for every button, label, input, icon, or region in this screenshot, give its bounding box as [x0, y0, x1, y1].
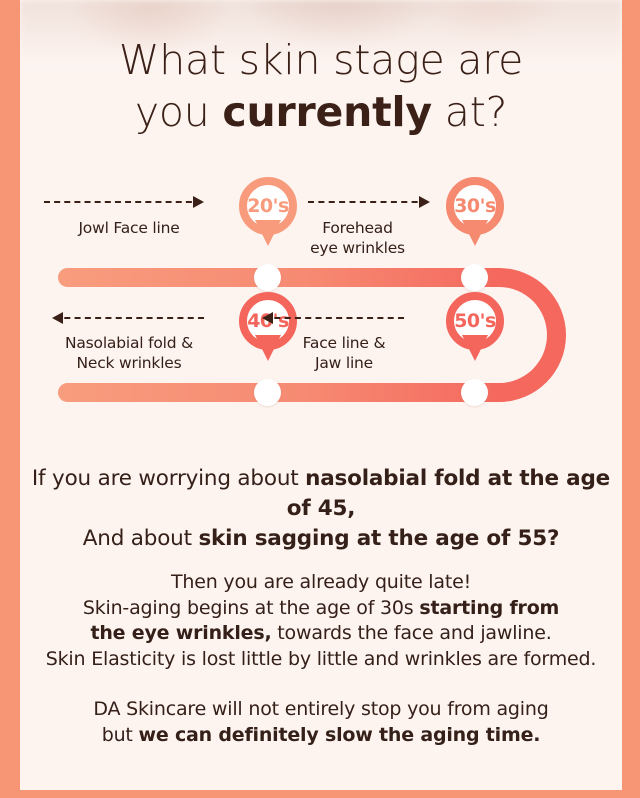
title-line-2-prefix: you: [135, 88, 223, 136]
timeline-node-50s: [461, 379, 488, 406]
paragraph-2-line-2-plain: Skin-aging begins at the age of 30s: [83, 597, 420, 619]
stage-connector-50s-dash: [264, 317, 404, 319]
stage-pin-30s-tail: [462, 220, 488, 246]
stage-connector-20s: [44, 201, 202, 203]
title-line-2-emphasis: currently: [222, 88, 432, 136]
paragraph-2-line-4: Skin Elasticity is lost little by little…: [20, 647, 622, 673]
content-canvas: What skin stage are you currently at? 20…: [20, 0, 622, 790]
paragraph-3-line-2-emphasis: we can definitely slow the aging time.: [139, 724, 541, 746]
paragraph-2-line-3-emphasis: the eye wrinkles,: [90, 622, 271, 644]
paragraph-1-line-2-emphasis: skin sagging at the age of 55?: [198, 526, 559, 551]
stage-label-20s: Jowl Face line: [34, 218, 224, 238]
stage-pin-30s[interactable]: 30's: [446, 177, 504, 235]
stage-connector-20s-dash: [44, 201, 202, 203]
paragraph-2-line-3-plain: towards the face and jawline.: [271, 622, 551, 644]
arrow-right-icon: [419, 196, 430, 208]
paragraph-1-line-1-emphasis: nasolabial fold at the age of 45,: [287, 466, 610, 521]
stage-pin-50s-age: 50's: [454, 312, 496, 331]
paragraph-1-line-1-plain: If you are worrying about: [32, 466, 305, 491]
stage-connector-30s-dash: [308, 201, 428, 203]
timeline-track-top: [58, 268, 508, 287]
title-line-2-suffix: at?: [432, 88, 507, 136]
timeline-node-20s: [254, 264, 281, 291]
paragraph-1-line-1: If you are worrying about nasolabial fol…: [20, 464, 622, 524]
paragraph-3-line-2-plain: but: [102, 724, 139, 746]
title-line-2: you currently at?: [20, 86, 622, 138]
paragraph-2-line-3: the eye wrinkles, towards the face and j…: [20, 621, 622, 647]
paragraph-2-line-2-emphasis: starting from: [419, 597, 559, 619]
stage-pin-50s-tail: [462, 335, 488, 361]
paragraph-2-line-1: Then you are already quite late!: [20, 570, 622, 596]
stage-connector-30s: [308, 201, 428, 203]
page-title: What skin stage are you currently at?: [20, 34, 622, 138]
paragraph-1-line-2-plain: And about: [83, 526, 199, 551]
arrow-left-icon: [52, 312, 63, 324]
timeline-node-30s: [461, 264, 488, 291]
paragraph-1-line-2: And about skin sagging at the age of 55?: [20, 524, 622, 554]
paragraph-3-line-1: DA Skincare will not entirely stop you f…: [20, 697, 622, 723]
stage-pin-30s-age: 30's: [454, 197, 496, 216]
stage-label-40s: Nasolabial fold & Neck wrinkles: [39, 333, 219, 373]
stage-pin-20s-age: 20's: [247, 197, 289, 216]
stage-connector-40s: [54, 317, 204, 319]
stage-label-30s: Forehead eye wrinkles: [275, 218, 440, 258]
body-paragraph-2: Then you are already quite late! Skin-ag…: [20, 570, 622, 672]
stage-pin-50s[interactable]: 50's: [446, 292, 504, 350]
arrow-left-icon: [262, 312, 273, 324]
arrow-right-icon: [193, 196, 204, 208]
paragraph-3-line-2: but we can definitely slow the aging tim…: [20, 723, 622, 749]
infographic-page: What skin stage are you currently at? 20…: [0, 0, 640, 798]
timeline-node-40s: [254, 379, 281, 406]
stage-connector-40s-dash: [54, 317, 204, 319]
body-paragraph-1: If you are worrying about nasolabial fol…: [20, 464, 622, 554]
stage-label-50s: Face line & Jaw line: [269, 333, 419, 373]
stage-connector-50s: [264, 317, 404, 319]
skin-stage-timeline: 20's Jowl Face line 30's Forehead eye wr…: [20, 165, 622, 425]
paragraph-2-line-2: Skin-aging begins at the age of 30s star…: [20, 596, 622, 622]
timeline-track-bottom: [58, 383, 508, 402]
body-paragraph-3: DA Skincare will not entirely stop you f…: [20, 697, 622, 748]
title-line-1: What skin stage are: [20, 34, 622, 86]
